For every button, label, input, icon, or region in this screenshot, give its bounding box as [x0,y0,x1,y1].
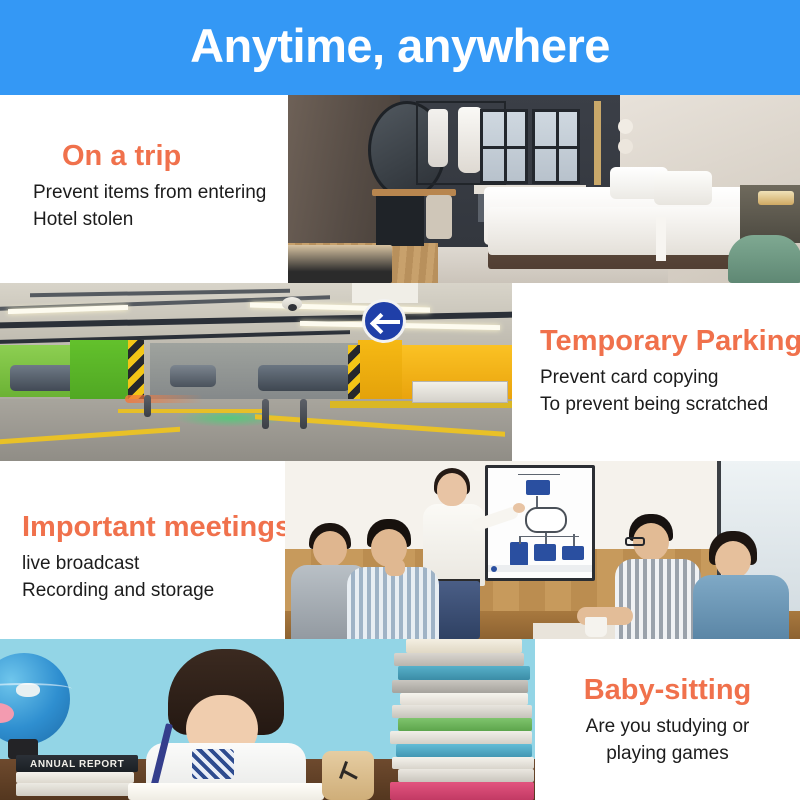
section-line-2: Recording and storage [22,578,291,605]
section-text-on-a-trip: On a trip Prevent items from entering Ho… [0,95,288,283]
section-heading-temporary-parking: Temporary Parking [540,326,800,358]
header-banner: Anytime, anywhere [0,0,800,95]
section-text-temporary-parking: Temporary Parking Prevent card copying T… [512,283,800,461]
section-line-2: playing games [535,741,800,768]
child-studying-photo: ANNUAL REPORT [0,639,535,800]
wall-lamp-icon [618,139,633,154]
infographic-page: Anytime, anywhere On a trip Prevent item… [0,0,800,800]
book-stack-right [388,639,535,800]
section-heading-baby-sitting: Baby-sitting [535,675,800,707]
book-stack-left: ANNUAL REPORT [16,755,138,800]
section-text-important-meetings: Important meetings live broadcast Record… [0,461,285,639]
section-line-2: To prevent being scratched [540,392,800,419]
security-camera-icon [282,297,302,310]
parking-garage-photo [0,283,512,461]
book-label: ANNUAL REPORT [30,759,124,770]
section-line-1: live broadcast [22,551,291,578]
left-turn-arrow-sign-icon [362,299,406,343]
section-heading-on-a-trip: On a trip [62,141,266,173]
window-shape [532,109,580,184]
wall-lamp-icon [618,119,633,134]
window-shape [480,109,528,184]
hotel-room-photo [288,95,800,283]
section-heading-important-meetings: Important meetings [22,512,291,544]
page-title: Anytime, anywhere [0,0,800,95]
green-pillar [70,340,128,403]
section-line-1: Are you studying or [535,714,800,741]
section-line-1: Prevent items from entering [33,180,266,207]
section-text-baby-sitting: Baby-sitting Are you studying or playing… [535,639,800,800]
eyeglasses-icon [625,537,645,546]
section-line-2: Hotel stolen [33,207,266,234]
clock-icon [322,751,374,800]
section-line-1: Prevent card copying [540,365,800,392]
meeting-room-photo [285,461,800,639]
